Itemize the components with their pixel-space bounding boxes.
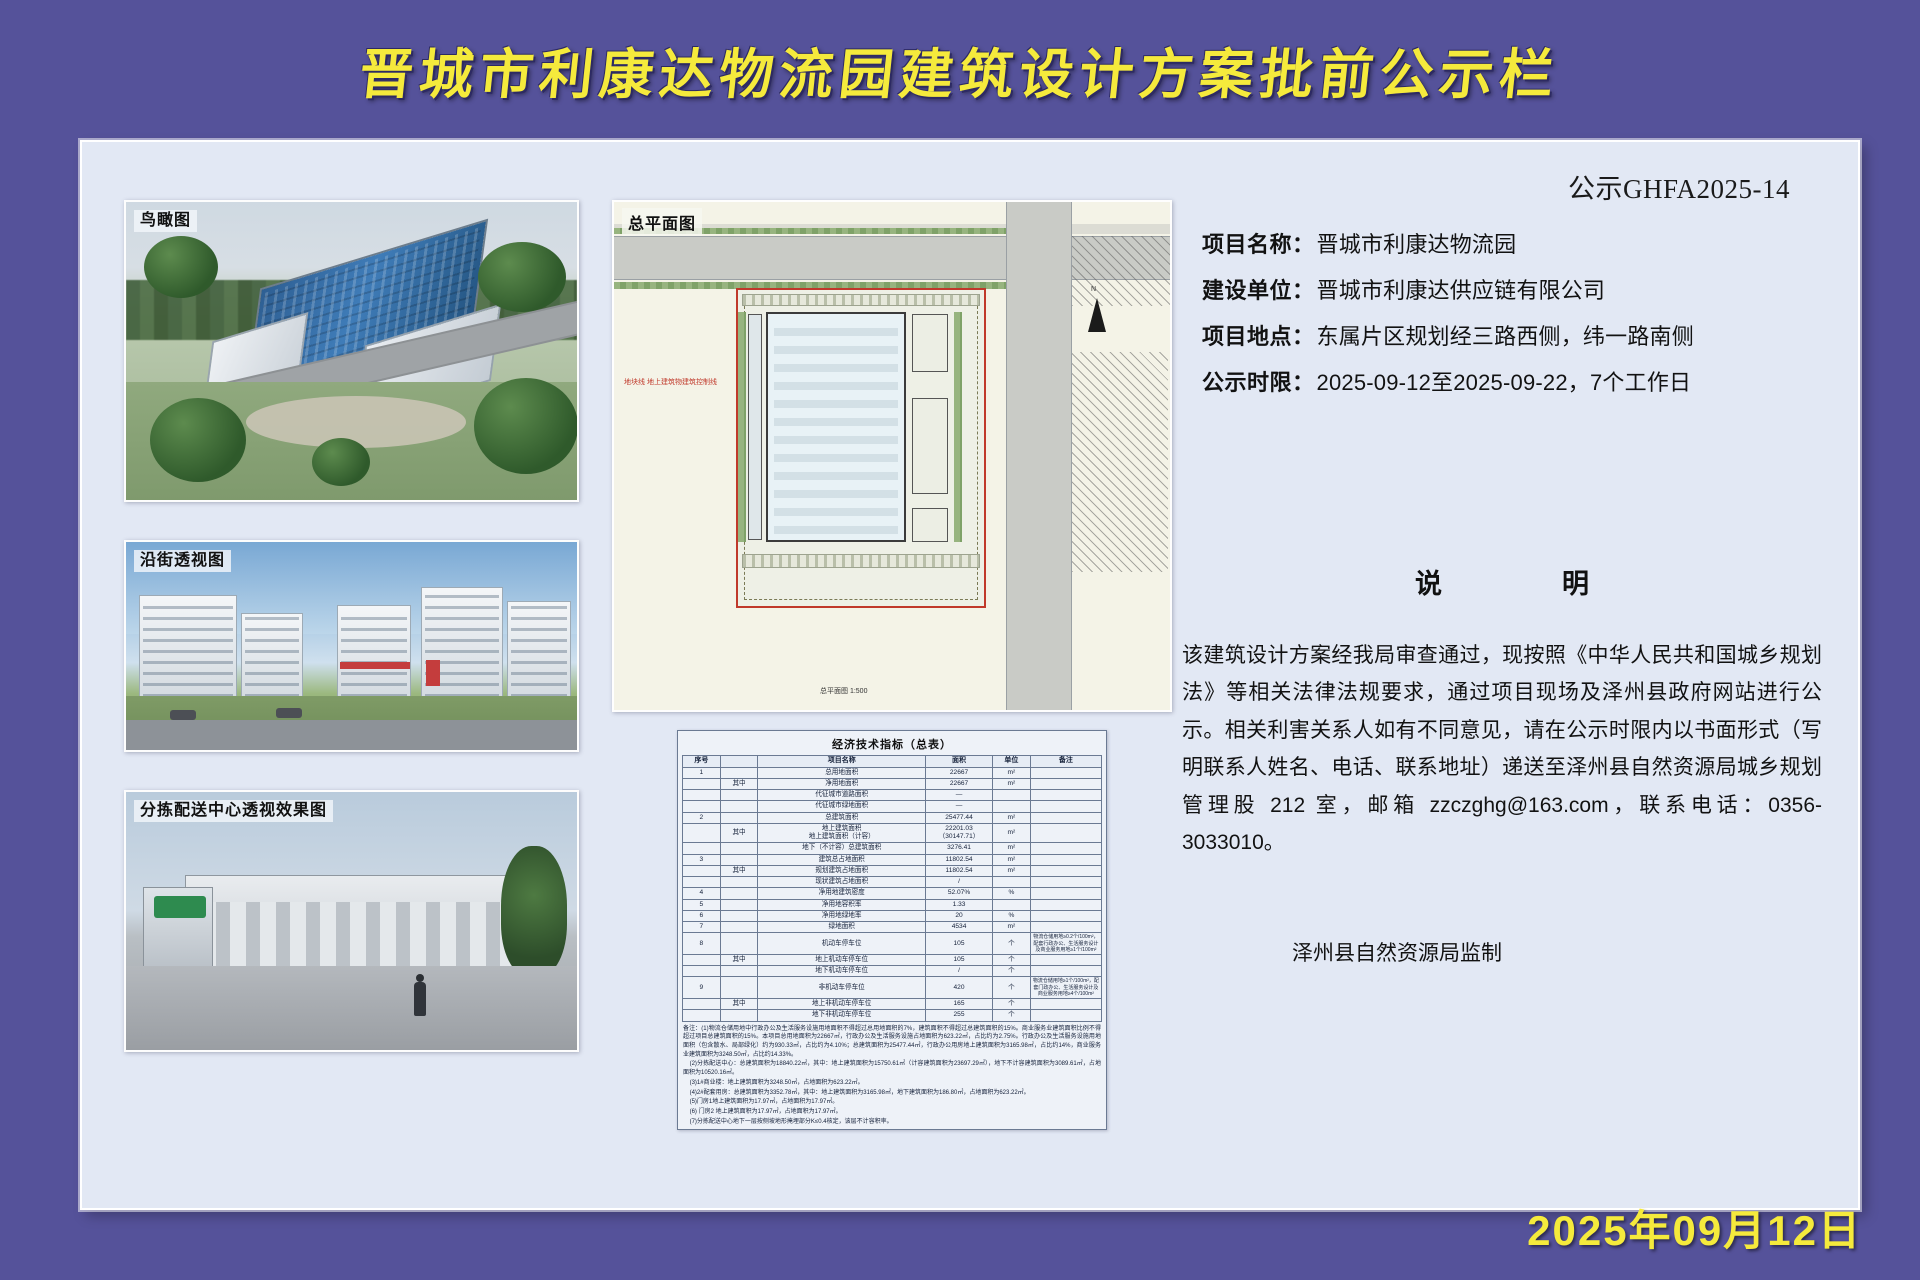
info-value: 晋城市利康达物流园 [1317, 234, 1517, 256]
pavement [126, 966, 577, 1050]
site-plan-drawing[interactable]: N 地块线 地上建筑物建筑控制线 总平面图 1:500 总平面图 [612, 200, 1172, 712]
aerial-render-image [126, 202, 577, 500]
cell-name: 净用地建筑密度 [758, 888, 926, 899]
cell-area: 4534 [926, 922, 993, 933]
cell-area: 11802.54 [926, 854, 993, 865]
column-header-unit: 单位 [993, 756, 1031, 768]
cell-sub [720, 899, 758, 910]
cell-area: 420 [926, 977, 993, 999]
tree-cluster-icon [144, 236, 218, 298]
figure-sorting-center-perspective[interactable]: 分拣配送中心透视效果图 [124, 790, 579, 1052]
cell-no [683, 778, 721, 789]
figure-aerial-view[interactable]: 鸟瞰图 [124, 200, 579, 502]
cell-remark [1030, 843, 1101, 854]
cell-area: 11802.54 [926, 865, 993, 876]
cell-sub [720, 1010, 758, 1021]
info-label: 公示时限： [1202, 372, 1315, 394]
building-block [242, 614, 302, 700]
cell-no [683, 877, 721, 888]
cell-sub [720, 933, 758, 955]
info-label: 项目名称： [1202, 234, 1315, 256]
cell-remark [1030, 1010, 1101, 1021]
cell-area: / [926, 877, 993, 888]
cell-name: 非机动车停车位 [758, 977, 926, 999]
cell-remark [1030, 790, 1101, 801]
cell-area: 22667 [926, 778, 993, 789]
building-sorting-center [766, 312, 906, 542]
explanation-body: 该建筑设计方案经我局审查通过，现按照《中华人民共和国城乡规划法》等相关法律法规要… [1182, 637, 1822, 861]
cell-no [683, 999, 721, 1010]
cell-sub [720, 888, 758, 899]
company-signage [154, 896, 206, 918]
cell-name: 总建筑面积 [758, 812, 926, 823]
economic-indicator-table: 序号 项目名称 面积 单位 备注 1总用地面积22667m²其中净用地面积226… [682, 755, 1102, 1022]
cell-no: 1 [683, 767, 721, 778]
cell-sub [720, 910, 758, 921]
figure-caption: 沿街透视图 [134, 550, 231, 572]
facade-accent [426, 660, 440, 686]
cell-remark [1030, 854, 1101, 865]
cell-name: 净用地容积率 [758, 899, 926, 910]
table-footnote: (3)1#商业楼：地上建筑面积为3248.50㎡，占地面积为623.22㎡。 [683, 1079, 1101, 1088]
column-header-remark: 备注 [1030, 756, 1101, 768]
cell-name: 建筑总占地面积 [758, 854, 926, 865]
cell-sub [720, 966, 758, 977]
north-arrow-icon: N [1080, 288, 1114, 340]
project-info-panel: 项目名称： 晋城市利康达物流园 建设单位： 晋城市利康达供应链有限公司 项目地点… [1202, 234, 1802, 418]
cell-name: 绿地面积 [758, 922, 926, 933]
cell-unit: 个 [993, 933, 1031, 955]
cell-no: 3 [683, 854, 721, 865]
cell-unit: m² [993, 922, 1031, 933]
cell-unit: m² [993, 767, 1031, 778]
table-row: 4净用地建筑密度52.07%% [683, 888, 1102, 899]
warehouse-volume [186, 876, 516, 968]
cell-unit [993, 801, 1031, 812]
building-1-commercial [912, 314, 948, 372]
cell-sub [720, 854, 758, 865]
table-footnote: (5)门房1地上建筑面积为17.97㎡，占地面积为17.97㎡。 [683, 1098, 1101, 1107]
cell-no: 4 [683, 888, 721, 899]
cell-unit: m² [993, 778, 1031, 789]
cell-no: 5 [683, 899, 721, 910]
cell-area: 1.33 [926, 899, 993, 910]
cell-sub [720, 977, 758, 999]
tree-cluster-icon [478, 242, 566, 312]
cell-unit: m² [993, 843, 1031, 854]
table-row: 代征城市绿地面积— [683, 801, 1102, 812]
cell-name: 净用地绿地率 [758, 910, 926, 921]
table-footnote: (7)分拣配送中心地下一层按侧坡地形掩埋部分K≤0.4核定，该层不计容积率。 [683, 1118, 1101, 1127]
column-header-no: 序号 [683, 756, 721, 768]
info-label: 建设单位： [1202, 280, 1315, 302]
info-row-location: 项目地点： 东属片区规划经三路西侧，纬一路南侧 [1202, 326, 1802, 348]
cell-name: 机动车停车位 [758, 933, 926, 955]
table-footnote: (4)2#配套用房：总建筑面积为3352.78㎡，其中：地上建筑面积为3165.… [683, 1089, 1101, 1098]
cell-sub [720, 877, 758, 888]
explanation-title: 说 明 [1182, 562, 1822, 601]
cell-sub [720, 922, 758, 933]
site-greenery-east [954, 312, 962, 542]
cell-remark [1030, 955, 1101, 966]
economic-indicator-table-panel[interactable]: 经济技术指标（总表） 序号 项目名称 面积 单位 备注 1总用地面积22667m… [677, 730, 1107, 1130]
table-row: 代征城市道路面积— [683, 790, 1102, 801]
cell-remark: 物流仓储用地≥1个/100m²，配套门政办公、生活服务设计及商业服务用地≥4个/… [1030, 977, 1101, 999]
table-row: 地下机动车停车位/个 [683, 966, 1102, 977]
table-footnote: (2)分拣配送中心：总建筑面积为18840.22㎡，其中：地上建筑面积为1575… [683, 1060, 1101, 1077]
site-plan-scale-label: 总平面图 1:500 [820, 686, 867, 696]
cell-sub [720, 767, 758, 778]
banner: 晋城市利康达物流园建筑设计方案批前公示栏 [0, 0, 1920, 138]
tree-icon [501, 846, 567, 976]
cell-area: 3276.41 [926, 843, 993, 854]
rendering-column: 鸟瞰图 沿街透视图 [124, 200, 579, 1090]
cell-name: 总用地面积 [758, 767, 926, 778]
cell-remark [1030, 899, 1101, 910]
table-row: 1总用地面积22667m² [683, 767, 1102, 778]
cell-name: 地上机动车停车位 [758, 955, 926, 966]
building-block [140, 596, 236, 700]
cell-remark [1030, 865, 1101, 876]
explanation-text: 该建筑设计方案经我局审查通过，现按照《中华人民共和国城乡规划法》等相关法律法规要… [1182, 644, 1822, 854]
roadway [126, 720, 577, 750]
cell-sub [720, 790, 758, 801]
site-greenery-west [738, 312, 746, 542]
document-number: 公示GHFA2025-14 [1568, 167, 1790, 206]
cell-remark: 物流仓储用地≥0.2个/100m²，配套行政办公、生活服务设计及商业服务用地≥1… [1030, 933, 1101, 955]
table-footnotes: 备注：(1)物流仓储用地中行政办公及生活服务设施用地面积不得超过总用地面积的7%… [682, 1024, 1102, 1127]
figure-caption: 鸟瞰图 [134, 210, 197, 232]
cell-no [683, 966, 721, 977]
cell-remark [1030, 922, 1101, 933]
cell-area: 255 [926, 1010, 993, 1021]
table-footnote: 备注：(1)物流仓储用地中行政办公及生活服务设施用地面积不得超过总用地面积的7%… [683, 1025, 1101, 1060]
cell-sub: 其中 [720, 778, 758, 789]
cell-no [683, 843, 721, 854]
table-row: 9非机动车停车位420个物流仓储用地≥1个/100m²，配套门政办公、生活服务设… [683, 977, 1102, 999]
cell-name: 规划建筑占地面积 [758, 865, 926, 876]
cell-name: 净用地面积 [758, 778, 926, 789]
info-row-developer: 建设单位： 晋城市利康达供应链有限公司 [1202, 280, 1802, 302]
cell-no: 2 [683, 812, 721, 823]
cell-remark [1030, 910, 1101, 921]
cell-sub [720, 801, 758, 812]
cell-remark [1030, 778, 1101, 789]
table-head: 序号 项目名称 面积 单位 备注 [683, 756, 1102, 768]
page-title: 晋城市利康达物流园建筑设计方案批前公示栏 [356, 30, 1564, 109]
cell-unit: m² [993, 865, 1031, 876]
cell-unit: 个 [993, 966, 1031, 977]
tree-cluster-icon [150, 398, 246, 482]
building-block [338, 606, 410, 700]
cell-no [683, 790, 721, 801]
table-row: 其中地上建筑面积地上建筑面积（计容）22201.03（30147.71）m² [683, 823, 1102, 842]
cell-area: / [926, 966, 993, 977]
info-label: 项目地点： [1202, 326, 1315, 348]
tree-cluster-icon [312, 438, 370, 486]
table-row: 8机动车停车位105个物流仓储用地≥0.2个/100m²，配套行政办公、生活服务… [683, 933, 1102, 955]
cell-area: 22667 [926, 767, 993, 778]
building-2-ancillary [912, 398, 948, 494]
cell-area: — [926, 790, 993, 801]
issuing-authority: 泽州县自然资源局监制 [1292, 937, 1502, 967]
table-row: 现状建筑占地面积/ [683, 877, 1102, 888]
explanation-section: 说 明 该建筑设计方案经我局审查通过，现按照《中华人民共和国城乡规划法》等相关法… [1182, 562, 1822, 861]
cell-no [683, 865, 721, 876]
building-west-strip [748, 314, 762, 540]
cell-remark [1030, 767, 1101, 778]
info-row-period: 公示时限： 2025-09-12至2025-09-22，7个工作日 [1202, 372, 1802, 394]
cell-area: 165 [926, 999, 993, 1010]
cell-name: 地下机动车停车位 [758, 966, 926, 977]
cell-area: 20 [926, 910, 993, 921]
cell-unit: 个 [993, 955, 1031, 966]
building-block [508, 602, 570, 700]
cell-no [683, 801, 721, 812]
table-row: 其中净用地面积22667m² [683, 778, 1102, 789]
table-title: 经济技术指标（总表） [682, 734, 1102, 755]
table-row: 地下非机动车停车位255个 [683, 1010, 1102, 1021]
table-footnote: (6) 门房2 地上建筑面积为17.97㎡，占地面积为17.97㎡。 [683, 1108, 1101, 1117]
entry-plaza [246, 396, 466, 448]
table-row: 其中地上机动车停车位105个 [683, 955, 1102, 966]
cell-remark [1030, 823, 1101, 842]
cell-remark [1030, 801, 1101, 812]
car-icon [170, 710, 196, 720]
cell-name: 地下（不计容）总建筑面积 [758, 843, 926, 854]
cell-unit [993, 790, 1031, 801]
cell-unit: m² [993, 812, 1031, 823]
cell-unit [993, 899, 1031, 910]
street-render-image [126, 542, 577, 750]
cell-no [683, 1010, 721, 1021]
column-header-sub [720, 756, 758, 768]
cell-unit: % [993, 888, 1031, 899]
person-figure [414, 982, 426, 1016]
cell-sub: 其中 [720, 955, 758, 966]
figure-caption: 分拣配送中心透视效果图 [134, 800, 333, 822]
parking-area-south [742, 554, 980, 568]
cell-sub [720, 812, 758, 823]
publish-date-badge: 2025年09月12日 [1527, 1197, 1862, 1258]
cell-no [683, 823, 721, 842]
column-header-name: 项目名称 [758, 756, 926, 768]
table-header-row: 序号 项目名称 面积 单位 备注 [683, 756, 1102, 768]
info-value: 晋城市利康达供应链有限公司 [1317, 280, 1606, 302]
cell-sub: 其中 [720, 999, 758, 1010]
table-row: 地下（不计容）总建筑面积3276.41m² [683, 843, 1102, 854]
table-row: 7绿地面积4534m² [683, 922, 1102, 933]
figure-street-perspective[interactable]: 沿街透视图 [124, 540, 579, 752]
cell-sub: 其中 [720, 823, 758, 842]
cell-unit: 个 [993, 1010, 1031, 1021]
site-plan-legend-note: 地块线 地上建筑物建筑控制线 [624, 378, 732, 387]
north-arrow-needle [1088, 298, 1106, 332]
cell-remark [1030, 812, 1101, 823]
table-row: 2总建筑面积25477.44m² [683, 812, 1102, 823]
cell-unit: m² [993, 823, 1031, 842]
notice-board: 公示GHFA2025-14 鸟瞰图 [80, 140, 1860, 1210]
cell-name: 地上建筑面积地上建筑面积（计容） [758, 823, 926, 842]
cell-unit: % [993, 910, 1031, 921]
cell-remark [1030, 966, 1101, 977]
cell-name: 代征城市绿地面积 [758, 801, 926, 812]
car-icon [276, 708, 302, 718]
cell-area: 105 [926, 955, 993, 966]
cell-name: 地上非机动车停车位 [758, 999, 926, 1010]
table-body: 1总用地面积22667m²其中净用地面积22667m²代征城市道路面积—代征城市… [683, 767, 1102, 1021]
cell-area: — [926, 801, 993, 812]
cell-unit: 个 [993, 977, 1031, 999]
cell-name: 地下非机动车停车位 [758, 1010, 926, 1021]
cell-sub [720, 843, 758, 854]
table-row: 6净用地绿地率20% [683, 910, 1102, 921]
cell-sub: 其中 [720, 865, 758, 876]
parking-area-north [742, 294, 980, 306]
cell-name: 现状建筑占地面积 [758, 877, 926, 888]
cell-no: 9 [683, 977, 721, 999]
info-value: 2025-09-12至2025-09-22，7个工作日 [1317, 372, 1692, 394]
cell-name: 代征城市道路面积 [758, 790, 926, 801]
cell-area: 25477.44 [926, 812, 993, 823]
cell-area: 22201.03（30147.71） [926, 823, 993, 842]
table-row: 其中规划建筑占地面积11802.54m² [683, 865, 1102, 876]
cell-area: 52.07% [926, 888, 993, 899]
tree-cluster-icon [474, 378, 578, 474]
east-hatching [1072, 352, 1168, 572]
cell-no: 8 [683, 933, 721, 955]
cell-unit [993, 877, 1031, 888]
cell-no: 6 [683, 910, 721, 921]
facade-accent [340, 662, 410, 669]
table-row: 其中地上非机动车停车位165个 [683, 999, 1102, 1010]
table-row: 3建筑总占地面积11802.54m² [683, 854, 1102, 865]
building-gatehouse [912, 508, 948, 542]
sorting-center-render-image [126, 792, 577, 1050]
info-row-project-name: 项目名称： 晋城市利康达物流园 [1202, 234, 1802, 256]
cell-remark [1030, 877, 1101, 888]
north-arrow-label: N [1091, 286, 1096, 293]
table-row: 5净用地容积率1.33 [683, 899, 1102, 910]
cell-unit: m² [993, 854, 1031, 865]
cell-area: 105 [926, 933, 993, 955]
cell-remark [1030, 999, 1101, 1010]
cell-no: 7 [683, 922, 721, 933]
info-value: 东属片区规划经三路西侧，纬一路南侧 [1317, 326, 1694, 348]
site-plan-title: 总平面图 [622, 208, 702, 236]
road-east [1006, 202, 1072, 710]
cell-unit: 个 [993, 999, 1031, 1010]
cell-remark [1030, 888, 1101, 899]
cell-no [683, 955, 721, 966]
column-header-area: 面积 [926, 756, 993, 768]
